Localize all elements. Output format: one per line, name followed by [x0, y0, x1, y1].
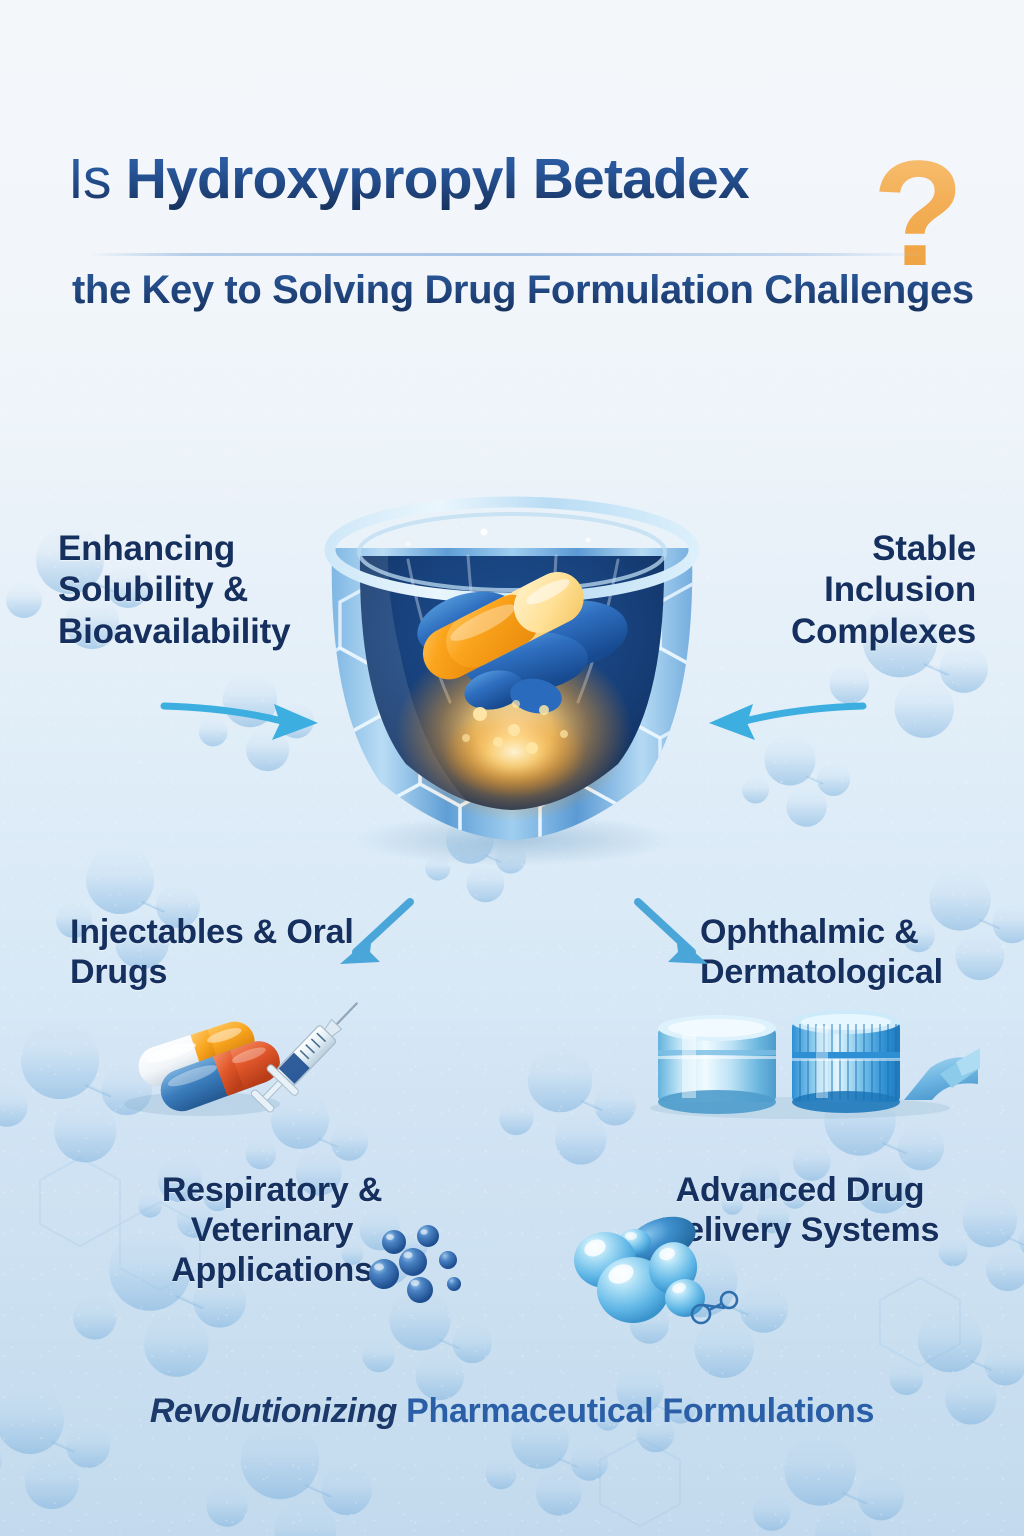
capsules-and-syringe-icon: [110, 1000, 360, 1120]
arrow-right-curved-icon: [162, 688, 327, 748]
application-label-ophthalmic-dermatological: Ophthalmic & Dermatological: [700, 912, 1020, 992]
arrow-left-curved-icon: [700, 688, 865, 748]
application-label-respiratory-veterinary: Respiratory & Veterinary Applications: [112, 1170, 432, 1290]
application-label-injectables-oral: Injectables & Oral Drugs: [70, 912, 370, 992]
footer-emphasis-word: Revolutionizing: [150, 1392, 397, 1430]
question-mark-icon: ?: [872, 138, 964, 288]
benefit-label-solubility: Enhancing Solubility & Bioavailability: [58, 528, 338, 652]
cyclodextrin-cone-illustration: [288, 452, 736, 872]
benefit-label-stable-inclusion: Stable Inclusion Complexes: [726, 528, 976, 652]
page-subtitle: the Key to Solving Drug Formulation Chal…: [72, 268, 974, 313]
footer-rest-text: Pharmaceutical Formulations: [397, 1392, 874, 1430]
molecular-background-pattern: [0, 0, 1024, 1536]
paper-grain-overlay: [0, 0, 1024, 1536]
cream-jars-icon: [640, 1000, 980, 1120]
application-label-advanced-drug-delivery: Advanced Drug Delivery Systems: [640, 1170, 960, 1250]
footer-tagline: Revolutionizing Pharmaceutical Formulati…: [0, 1392, 1024, 1431]
title-block: Is Hydroxypropyl Betadex ?: [0, 150, 1024, 209]
page-title: Is Hydroxypropyl Betadex: [68, 147, 749, 211]
title-divider: [88, 253, 928, 256]
infographic-poster: Is Hydroxypropyl Betadex ? the Key to So…: [0, 0, 1024, 1536]
title-main-word: Hydroxypropyl Betadex: [126, 147, 749, 211]
title-lead-word: Is: [68, 147, 111, 211]
